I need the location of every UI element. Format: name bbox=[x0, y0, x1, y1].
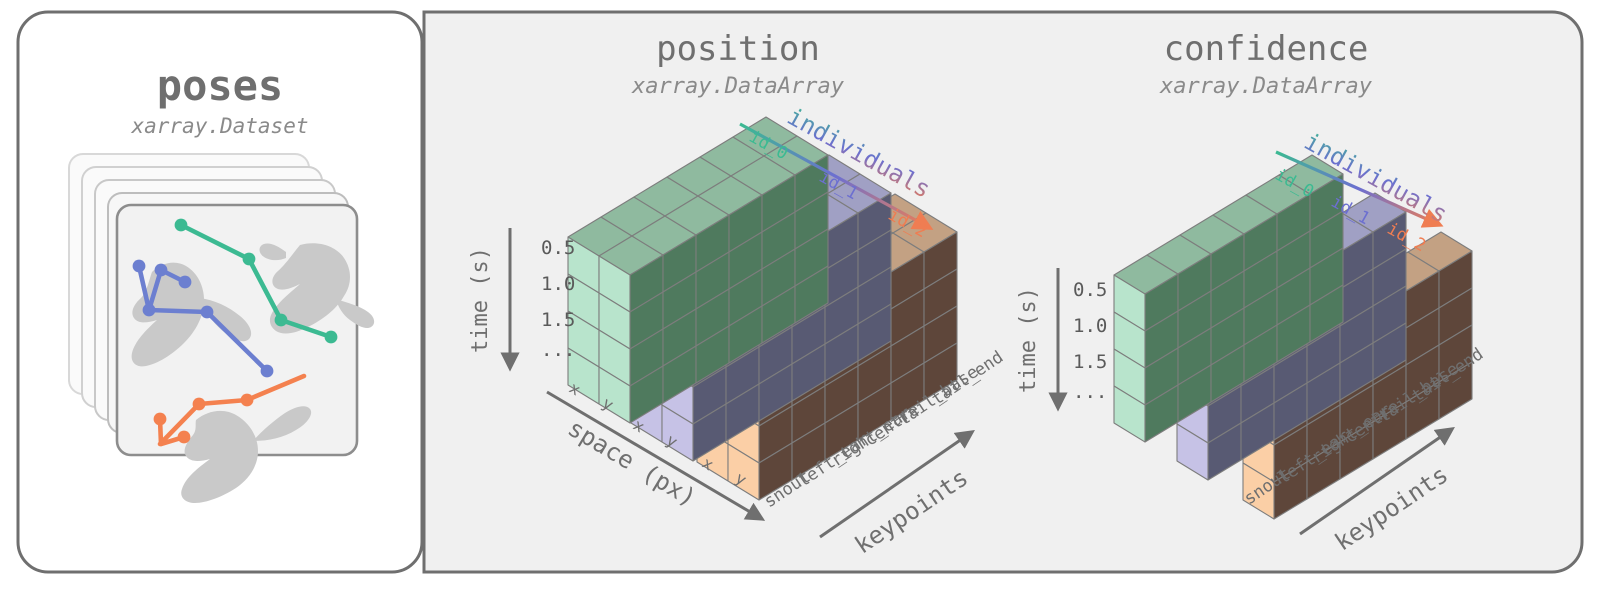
time-tick-c0: 0.5 bbox=[1073, 279, 1107, 301]
page-subtitle: xarray.Dataset bbox=[130, 114, 308, 138]
array-title-position: position bbox=[656, 29, 820, 69]
page-title: poses bbox=[157, 61, 283, 110]
diagram-canvas: poses xarray.Dataset bbox=[0, 0, 1600, 600]
array-subtitle-position: xarray.DataArray bbox=[631, 74, 845, 99]
time-axis-label-confidence: time (s) bbox=[1016, 287, 1041, 393]
time-tick-c3: ... bbox=[1073, 381, 1107, 403]
figure-root: poses xarray.Dataset bbox=[0, 0, 1600, 600]
array-title-confidence: confidence bbox=[1164, 29, 1369, 69]
time-tick-c1: 1.0 bbox=[1073, 315, 1107, 337]
time-tick-3: ... bbox=[541, 339, 575, 361]
time-tick-0: 0.5 bbox=[541, 237, 575, 259]
time-tick-1: 1.0 bbox=[541, 273, 575, 295]
time-tick-c2: 1.5 bbox=[1073, 351, 1107, 373]
array-subtitle-confidence: xarray.DataArray bbox=[1159, 74, 1373, 99]
time-axis-label-position: time (s) bbox=[468, 247, 493, 353]
time-tick-2: 1.5 bbox=[541, 309, 575, 331]
